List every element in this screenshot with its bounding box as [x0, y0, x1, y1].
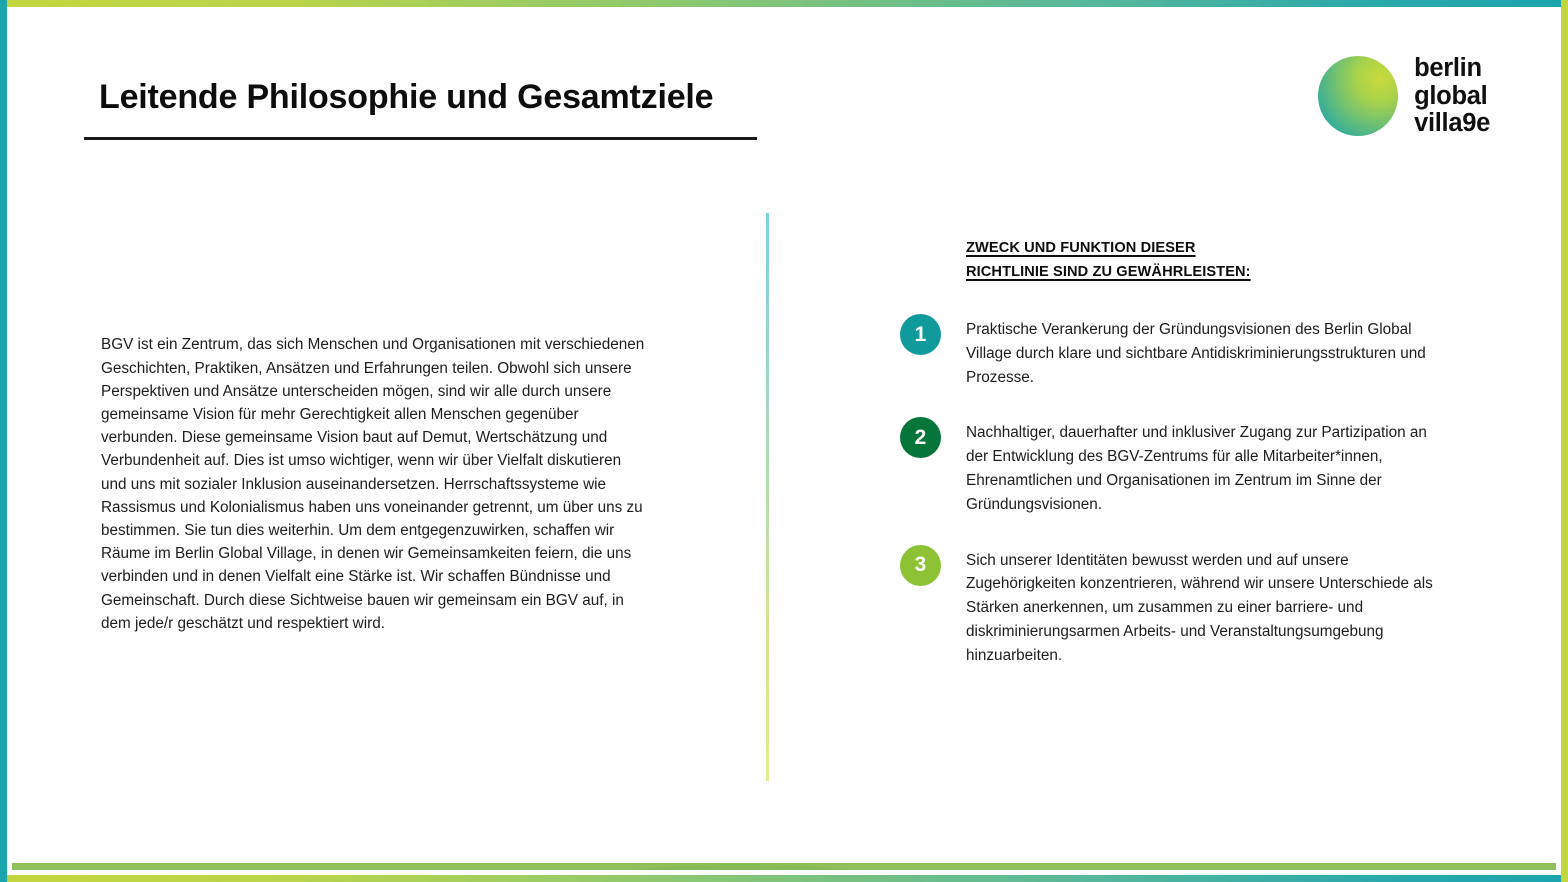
slide: Leitende Philosophie und Gesamtziele ber…	[0, 0, 1568, 882]
logo-wordmark: berlin global villa9e	[1414, 55, 1490, 138]
philosophy-paragraph: BGV ist ein Zentrum, das sich Menschen u…	[101, 333, 646, 635]
list-item: 2 Nachhaltiger, dauerhafter und inklusiv…	[900, 421, 1445, 516]
logo-line-berlin: berlin	[1414, 55, 1490, 83]
purpose-heading-line-2: RICHTLINIE SIND ZU GEWÄHRLEISTEN:	[966, 260, 1251, 284]
point-text-2: Nachhaltiger, dauerhafter und inklusiver…	[966, 421, 1445, 516]
point-text-3: Sich unserer Identitäten bewusst werden …	[966, 549, 1445, 668]
purpose-heading-line-1: ZWECK UND FUNKTION DIESER	[966, 236, 1196, 260]
number-badge-2: 2	[900, 417, 941, 458]
title-underline-rule	[84, 137, 757, 140]
page-title: Leitende Philosophie und Gesamtziele	[99, 78, 713, 117]
right-column: ZWECK UND FUNKTION DIESER RICHTLINIE SIN…	[900, 236, 1445, 668]
number-badge-1: 1	[900, 314, 941, 355]
hill-baseline	[0, 863, 1568, 870]
logo-line-global: global	[1414, 83, 1490, 111]
decorative-hills	[0, 750, 1568, 870]
number-badge-3: 3	[900, 545, 941, 586]
logo: berlin global villa9e	[1318, 55, 1490, 138]
hill-left	[436, 864, 1048, 870]
logo-circle-icon	[1318, 56, 1398, 136]
purpose-heading: ZWECK UND FUNKTION DIESER RICHTLINIE SIN…	[966, 236, 1445, 284]
column-divider	[766, 213, 769, 781]
list-item: 1 Praktische Verankerung der Gründungsvi…	[900, 318, 1445, 389]
point-text-1: Praktische Verankerung der Gründungsvisi…	[966, 318, 1445, 389]
left-column: BGV ist ein Zentrum, das sich Menschen u…	[101, 318, 646, 650]
list-item: 3 Sich unserer Identitäten bewusst werde…	[900, 549, 1445, 668]
logo-line-village: villa9e	[1414, 110, 1490, 138]
